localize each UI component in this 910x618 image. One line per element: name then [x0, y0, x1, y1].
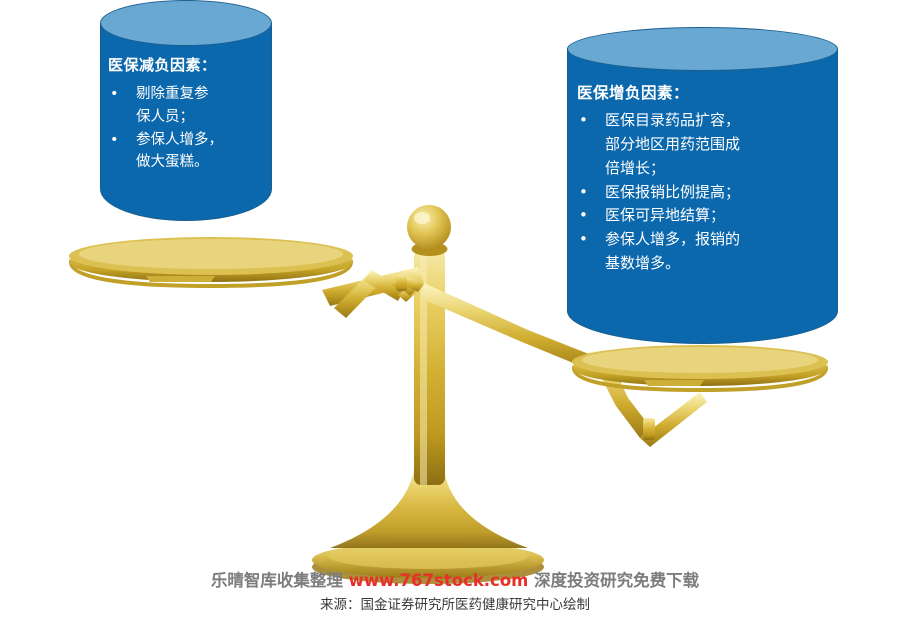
list-item: • 医保目录药品扩容， 部分地区用药范围成 倍增长； — [577, 109, 830, 180]
right-cylinder-heading: 医保增负因素： — [577, 81, 830, 105]
bullet-line: 倍增长； — [605, 159, 665, 177]
source-note: 来源：国金证券研究所医药健康研究中心绘制 — [0, 593, 910, 613]
list-item-label: 医保报销比例提高； — [605, 181, 830, 205]
list-item: • 医保报销比例提高； — [577, 181, 830, 205]
bullet-line: 剔除重复参 — [136, 86, 209, 102]
bullet-icon: • — [108, 129, 136, 152]
bullet-icon: • — [577, 181, 605, 205]
watermark: 乐晴智库收集整理 www.767stock.com 深度投资研究免费下载 — [0, 567, 910, 591]
list-item: • 参保人增多，报销的 基数增多。 — [577, 228, 830, 275]
bullet-icon: • — [577, 228, 605, 252]
watermark-url[interactable]: www.767stock.com — [349, 571, 529, 590]
bullet-line: 参保人增多，报销的 — [605, 230, 740, 248]
list-item-label: 医保可异地结算； — [605, 204, 830, 228]
bullet-line: 医保报销比例提高； — [605, 183, 740, 201]
left-cylinder-bottom — [100, 189, 272, 221]
bullet-line: 参保人增多， — [136, 132, 223, 148]
bullet-line: 医保可异地结算； — [605, 206, 725, 224]
list-item: • 参保人增多， 做大蛋糕。 — [108, 129, 266, 175]
left-cylinder-top — [100, 0, 272, 46]
left-cylinder-heading: 医保减负因素： — [108, 54, 266, 78]
right-cylinder-content: 医保增负因素： • 医保目录药品扩容， 部分地区用药范围成 倍增长； • 医保报… — [577, 81, 830, 275]
bullet-line: 保人员； — [136, 109, 194, 125]
list-item-label: 剔除重复参 保人员； — [136, 83, 266, 129]
bullet-line: 部分地区用药范围成 — [605, 135, 740, 153]
scale-pan-right-icon — [572, 345, 828, 392]
right-cylinder: 医保增负因素： • 医保目录药品扩容， 部分地区用药范围成 倍增长； • 医保报… — [567, 27, 838, 345]
list-item-label: 参保人增多， 做大蛋糕。 — [136, 129, 266, 175]
bullet-line: 医保目录药品扩容， — [605, 111, 740, 129]
left-cylinder-content: 医保减负因素： • 剔除重复参 保人员； • 参保人增多， 做大蛋糕。 — [108, 54, 266, 174]
scale-pivot-ball-icon — [407, 205, 451, 256]
list-item-label: 参保人增多，报销的 基数增多。 — [605, 228, 830, 275]
watermark-suffix: 深度投资研究免费下载 — [528, 571, 699, 590]
list-item: • 剔除重复参 保人员； — [108, 83, 266, 129]
watermark-prefix: 乐晴智库收集整理 — [211, 571, 349, 590]
list-item: • 医保可异地结算； — [577, 204, 830, 228]
right-cylinder-top — [567, 27, 838, 71]
right-cylinder-bottom — [567, 311, 838, 344]
bullet-icon: • — [577, 204, 605, 228]
bullet-icon: • — [108, 83, 136, 106]
list-item-label: 医保目录药品扩容， 部分地区用药范围成 倍增长； — [605, 109, 830, 180]
scale-pan-left-icon — [69, 237, 353, 288]
bullet-line: 做大蛋糕。 — [136, 154, 209, 170]
figure-canvas: 医保减负因素： • 剔除重复参 保人员； • 参保人增多， 做大蛋糕。 医 — [0, 0, 910, 618]
bullet-line: 基数增多。 — [605, 254, 680, 272]
bullet-icon: • — [577, 109, 605, 133]
left-cylinder: 医保减负因素： • 剔除重复参 保人员； • 参保人增多， 做大蛋糕。 — [100, 0, 272, 222]
